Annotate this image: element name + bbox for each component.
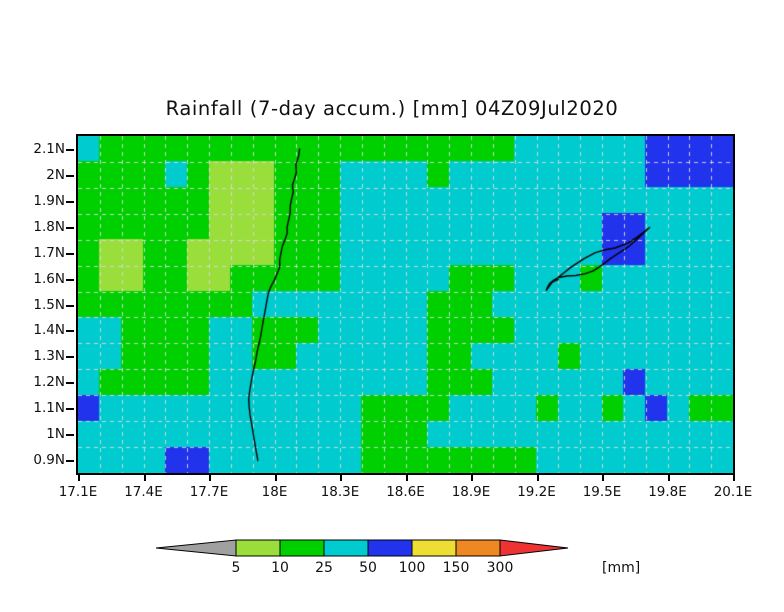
y-axis-label: 1.8N — [33, 219, 65, 235]
colorbar-segment — [236, 540, 280, 556]
x-axis-tick — [537, 473, 539, 481]
x-axis-label: 18E — [262, 484, 288, 500]
y-axis-tick — [66, 227, 74, 229]
colorbar-segment — [412, 540, 456, 556]
colorbar-under-arrow — [156, 540, 236, 556]
x-axis-tick — [668, 473, 670, 481]
y-axis-tick — [66, 201, 74, 203]
x-axis-label: 18.3E — [321, 484, 360, 500]
colorbar-tick-label: 25 — [315, 560, 333, 576]
colorbar-segment — [324, 540, 368, 556]
geographic-overlay — [78, 136, 733, 473]
colorbar-over-arrow — [500, 540, 568, 556]
x-axis-tick — [275, 473, 277, 481]
y-axis-label: 2.1N — [33, 141, 65, 157]
colorbar-legend[interactable]: [mm] 5102550100150300 — [156, 538, 652, 582]
page-title: Rainfall (7-day accum.) [mm] 04Z09Jul202… — [0, 97, 784, 120]
colorbar-segment — [368, 540, 412, 556]
y-axis-label: 1.1N — [33, 400, 65, 416]
y-axis-tick — [66, 460, 74, 462]
x-axis-label: 17.4E — [124, 484, 163, 500]
x-axis-tick — [406, 473, 408, 481]
x-axis-label: 19.8E — [648, 484, 687, 500]
x-axis-tick — [209, 473, 211, 481]
colorbar-tick-label: 300 — [487, 560, 514, 576]
x-axis-label: 19.2E — [517, 484, 556, 500]
x-axis-tick — [602, 473, 604, 481]
y-axis-tick — [66, 253, 74, 255]
x-axis-tick — [340, 473, 342, 481]
y-axis-tick — [66, 356, 74, 358]
y-axis-label: 1.7N — [33, 245, 65, 261]
y-axis-tick — [66, 279, 74, 281]
y-axis-tick — [66, 175, 74, 177]
heatmap-plot-area[interactable] — [76, 134, 735, 475]
y-axis-label: 1.2N — [33, 374, 65, 390]
x-axis-label: 20.1E — [714, 484, 753, 500]
x-axis-tick — [733, 473, 735, 481]
colorbar-tick-label: 150 — [443, 560, 470, 576]
colorbar-tick-label: 100 — [399, 560, 426, 576]
y-axis-label: 1.5N — [33, 297, 65, 313]
x-axis-label: 18.9E — [452, 484, 491, 500]
y-axis-tick — [66, 434, 74, 436]
y-axis-label: 1N — [46, 426, 65, 442]
y-axis-label: 1.9N — [33, 193, 65, 209]
y-axis-tick — [66, 305, 74, 307]
x-axis-tick — [471, 473, 473, 481]
colorbar-swatches — [156, 538, 652, 560]
x-axis: 17.1E17.4E17.7E18E18.3E18.6E18.9E19.2E19… — [78, 473, 733, 507]
y-axis-tick — [66, 149, 74, 151]
x-axis-label: 18.6E — [386, 484, 425, 500]
x-axis-label: 17.7E — [190, 484, 229, 500]
colorbar-segment — [280, 540, 324, 556]
y-axis: 2.1N2N1.9N1.8N1.7N1.6N1.5N1.4N1.3N1.2N1.… — [0, 136, 74, 473]
y-axis-tick — [66, 382, 74, 384]
colorbar-tick-label: 50 — [359, 560, 377, 576]
colorbar-tick-label: 5 — [232, 560, 241, 576]
y-axis-label: 1.4N — [33, 322, 65, 338]
y-axis-label: 0.9N — [33, 452, 65, 468]
x-axis-label: 17.1E — [59, 484, 98, 500]
y-axis-label: 1.6N — [33, 271, 65, 287]
colorbar-segment — [456, 540, 500, 556]
colorbar-tick-label: 10 — [271, 560, 289, 576]
y-axis-tick — [66, 330, 74, 332]
y-axis-tick — [66, 408, 74, 410]
colorbar-units-label: [mm] — [602, 560, 640, 576]
x-axis-tick — [144, 473, 146, 481]
x-axis-tick — [78, 473, 80, 481]
y-axis-label: 1.3N — [33, 348, 65, 364]
y-axis-label: 2N — [46, 167, 65, 183]
x-axis-label: 19.5E — [583, 484, 622, 500]
